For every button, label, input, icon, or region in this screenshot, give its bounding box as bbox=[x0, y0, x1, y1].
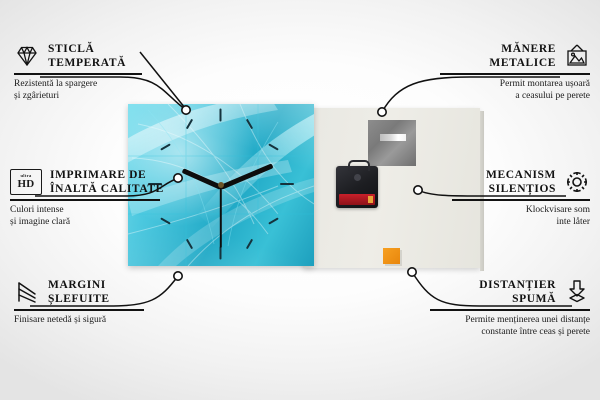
second-hand bbox=[220, 186, 222, 248]
battery bbox=[339, 194, 375, 205]
feature-subtitle-line1: Culori intense bbox=[10, 204, 170, 216]
polished-edges-icon bbox=[14, 279, 40, 305]
clock-mechanism bbox=[336, 166, 378, 208]
feature-title-line1: DISTANȚIER bbox=[479, 278, 556, 292]
feature-header: DISTANȚIER SPUMĂ bbox=[430, 278, 590, 306]
feature-foam-spacer: DISTANȚIER SPUMĂ Permite menținerea unei… bbox=[430, 278, 590, 338]
feature-silent-mechanism: MECANISM SILENȚIOS Klockvisare som inte … bbox=[452, 168, 590, 228]
clock-hands-hub bbox=[218, 182, 224, 188]
feature-subtitle-line1: Permite menținerea unei distanțe bbox=[430, 314, 590, 326]
feature-header: STICLĂ TEMPERATĂ bbox=[14, 42, 154, 70]
feature-rule bbox=[10, 199, 160, 201]
feature-subtitle-line2: și imagine clară bbox=[10, 216, 170, 228]
feature-title-line1: MĂNERE bbox=[489, 42, 556, 56]
feature-title-line1: STICLĂ bbox=[48, 42, 126, 56]
feature-subtitle-line1: Permit montarea ușoară bbox=[440, 78, 590, 90]
connector-dot-edges bbox=[174, 272, 182, 280]
feature-header: ultra HD IMPRIMARE DE ÎNALTĂ CALITATE bbox=[10, 168, 170, 196]
feature-title-line2: ÎNALTĂ CALITATE bbox=[50, 182, 164, 196]
feature-title-line2: SPUMĂ bbox=[479, 292, 556, 306]
feature-header: MĂNERE METALICE bbox=[440, 42, 590, 70]
feature-subtitle-line2: constante între ceas și perete bbox=[430, 326, 590, 338]
gear-icon bbox=[564, 169, 590, 195]
feature-rule bbox=[452, 199, 590, 201]
feature-title-line2: METALICE bbox=[489, 56, 556, 70]
feature-polished-edges: MARGINI ȘLEFUITE Finisare netedă și sigu… bbox=[14, 278, 154, 326]
mechanism-shaft bbox=[354, 174, 361, 181]
feature-subtitle-line1: Finisare netedă și sigură bbox=[14, 314, 154, 326]
feature-title-line1: MECANISM bbox=[486, 168, 556, 182]
feature-title-line2: TEMPERATĂ bbox=[48, 56, 126, 70]
feature-metal-handles: MĂNERE METALICE Permit montarea ușoară a… bbox=[440, 42, 590, 102]
product-image bbox=[128, 104, 480, 272]
infographic-stage: STICLĂ TEMPERATĂ Rezistentă la spargere … bbox=[0, 0, 600, 400]
hour-tick bbox=[220, 109, 222, 122]
feature-title-line2: SILENȚIOS bbox=[486, 182, 556, 196]
feature-high-quality-print: ultra HD IMPRIMARE DE ÎNALTĂ CALITATE Cu… bbox=[10, 168, 170, 228]
feature-subtitle-line1: Klockvisare som bbox=[452, 204, 590, 216]
feature-subtitle-line2: și zgârieturi bbox=[14, 90, 154, 102]
hanger-slot bbox=[380, 134, 406, 141]
feature-title-line1: IMPRIMARE DE bbox=[50, 168, 164, 182]
feature-header: MECANISM SILENȚIOS bbox=[452, 168, 590, 196]
diamond-icon bbox=[14, 43, 40, 69]
metal-hanger-plate bbox=[368, 120, 416, 166]
feature-rule bbox=[440, 73, 590, 75]
ultra-hd-icon: ultra HD bbox=[10, 169, 42, 195]
feature-subtitle-line1: Rezistentă la spargere bbox=[14, 78, 154, 90]
mechanism-hanging-loop bbox=[348, 160, 370, 171]
ultra-hd-icon-large-text: HD bbox=[18, 179, 35, 190]
hour-tick bbox=[220, 247, 222, 260]
feature-tempered-glass: STICLĂ TEMPERATĂ Rezistentă la spargere … bbox=[14, 42, 154, 102]
feature-title-line1: MARGINI bbox=[48, 278, 110, 292]
down-arrow-pad-icon bbox=[564, 279, 590, 305]
hour-tick bbox=[280, 183, 294, 185]
picture-hanger-icon bbox=[564, 43, 590, 69]
foam-spacer bbox=[383, 248, 400, 264]
feature-rule bbox=[14, 309, 144, 311]
feature-rule bbox=[430, 309, 590, 311]
feature-rule bbox=[14, 73, 142, 75]
feature-title-line2: ȘLEFUITE bbox=[48, 292, 110, 306]
feature-subtitle-line2: inte låter bbox=[452, 216, 590, 228]
feature-header: MARGINI ȘLEFUITE bbox=[14, 278, 154, 306]
feature-subtitle-line2: a ceasului pe perete bbox=[440, 90, 590, 102]
